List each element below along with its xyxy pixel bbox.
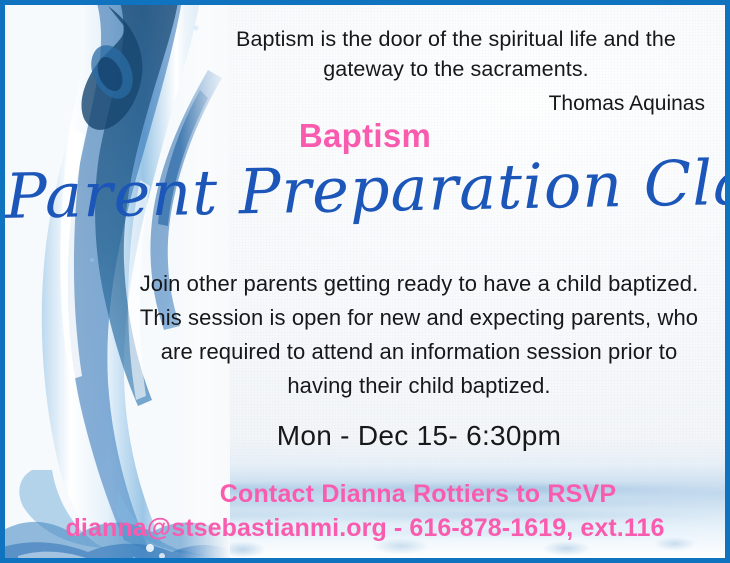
- session-date-time: Mon - Dec 15- 6:30pm: [133, 419, 705, 453]
- quote-text: Baptism is the door of the spiritual lif…: [205, 24, 707, 84]
- contact-rsvp-heading: Contact Dianna Rottiers to RSVP: [125, 479, 711, 509]
- flyer-content: Baptism is the door of the spiritual lif…: [5, 5, 725, 558]
- quote-attribution: Thomas Aquinas: [549, 91, 705, 117]
- baptism-class-flyer: Baptism is the door of the spiritual lif…: [0, 0, 730, 563]
- body-description: Join other parents getting ready to have…: [133, 267, 705, 403]
- page-title-parent-preparation-class: Parent Preparation Class: [4, 140, 726, 240]
- contact-email-phone: dianna@stsebastianmi.org - 616-878-1619,…: [13, 513, 717, 543]
